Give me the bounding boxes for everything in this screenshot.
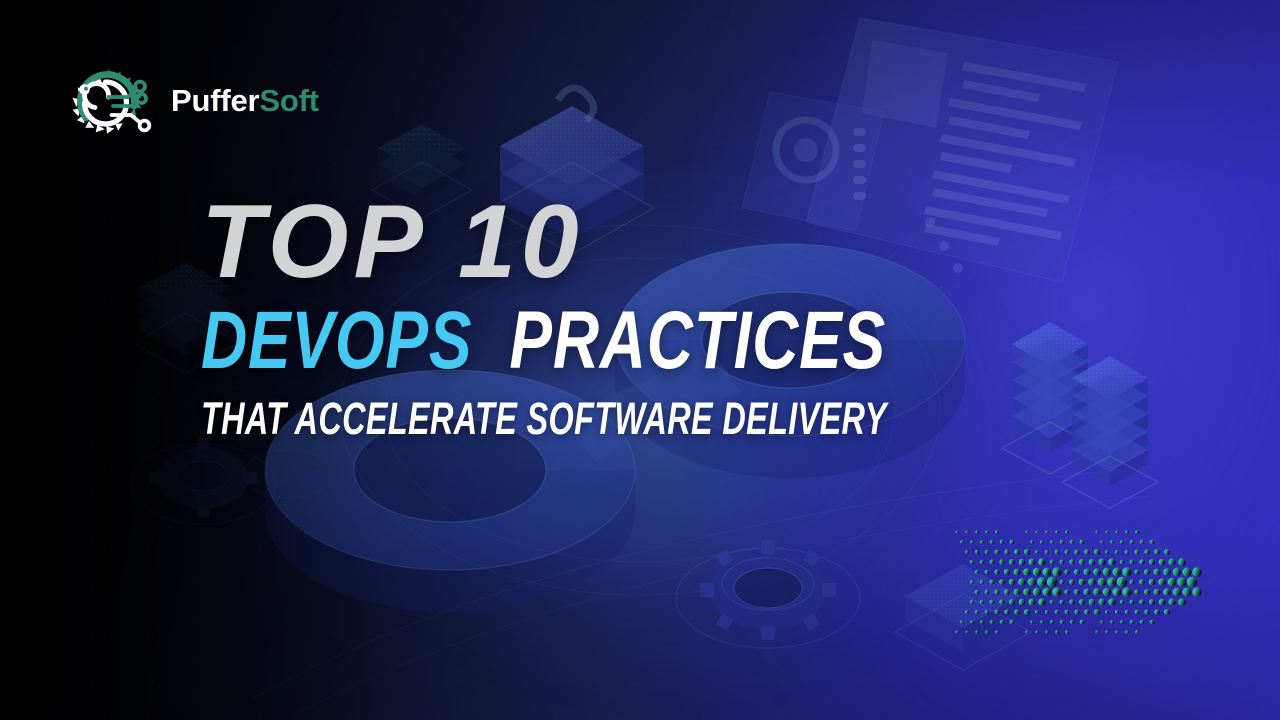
- headline-keyword: DEVOPS: [201, 295, 472, 386]
- headline-block: TOP 10 DEVOPS PRACTICES THAT ACCELERATE …: [201, 190, 981, 441]
- brand-logo[interactable]: PufferSoft: [62, 64, 319, 136]
- headline-line-mid-rest: PRACTICES: [509, 295, 886, 386]
- gear-isometric-left: [131, 438, 275, 524]
- headline-line-mid: DEVOPS PRACTICES: [201, 300, 809, 382]
- brand-name-part1: Puffer: [171, 83, 259, 118]
- poster-canvas: PufferSoft TOP 10 DEVOPS PRACTICES THAT …: [0, 0, 1280, 720]
- gear-isometric-small: [244, 450, 332, 498]
- headline-line-top: TOP 10: [201, 190, 981, 294]
- server-stack-tall: [1002, 322, 1098, 474]
- halftone-chevron-arrows: [955, 520, 1215, 650]
- server-stack-short: [1062, 356, 1158, 508]
- brand-wordmark: PufferSoft: [171, 85, 319, 116]
- gear-circuit-logo-icon: [62, 64, 158, 136]
- headline-subtitle: THAT ACCELERATE SOFTWARE DELIVERY: [201, 396, 763, 441]
- brand-name-part2: Soft: [259, 83, 318, 118]
- gear-isometric-large: [676, 540, 860, 648]
